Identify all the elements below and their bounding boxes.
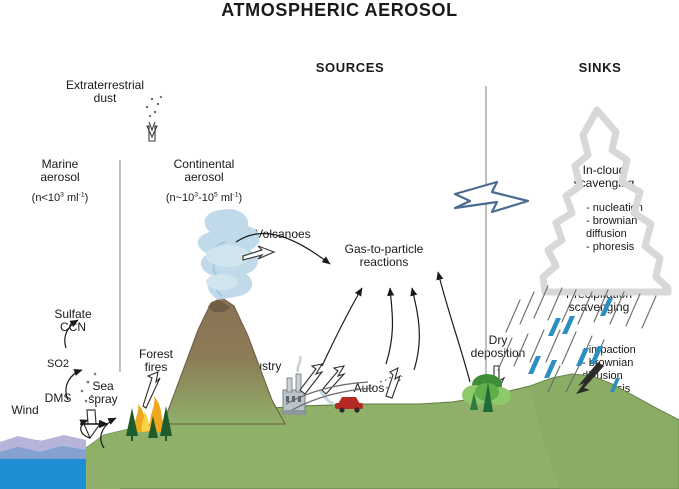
section-dividers (120, 86, 486, 374)
gas-to-particle-arrows (236, 206, 470, 382)
transport-arrow (455, 182, 528, 212)
landscape (86, 298, 679, 489)
sea-spray-particles (81, 373, 101, 407)
diagram-canvas: ATMOSPHERIC AEROSOL SOURCES SINKS Extrat… (0, 0, 679, 489)
diagram-artwork (0, 0, 679, 489)
industry-factory (283, 356, 305, 415)
industry-emission-arrow (300, 364, 322, 394)
extraterrestrial-dust-particles (146, 96, 162, 117)
in-cloud-shape (543, 110, 668, 292)
resuspension-arrow (386, 368, 400, 398)
extraterrestrial-dust-arrow (147, 122, 157, 141)
auto-emission-arrow (322, 366, 344, 394)
dms-so2-ccn-arrows (20, 320, 116, 448)
ocean (0, 435, 86, 489)
